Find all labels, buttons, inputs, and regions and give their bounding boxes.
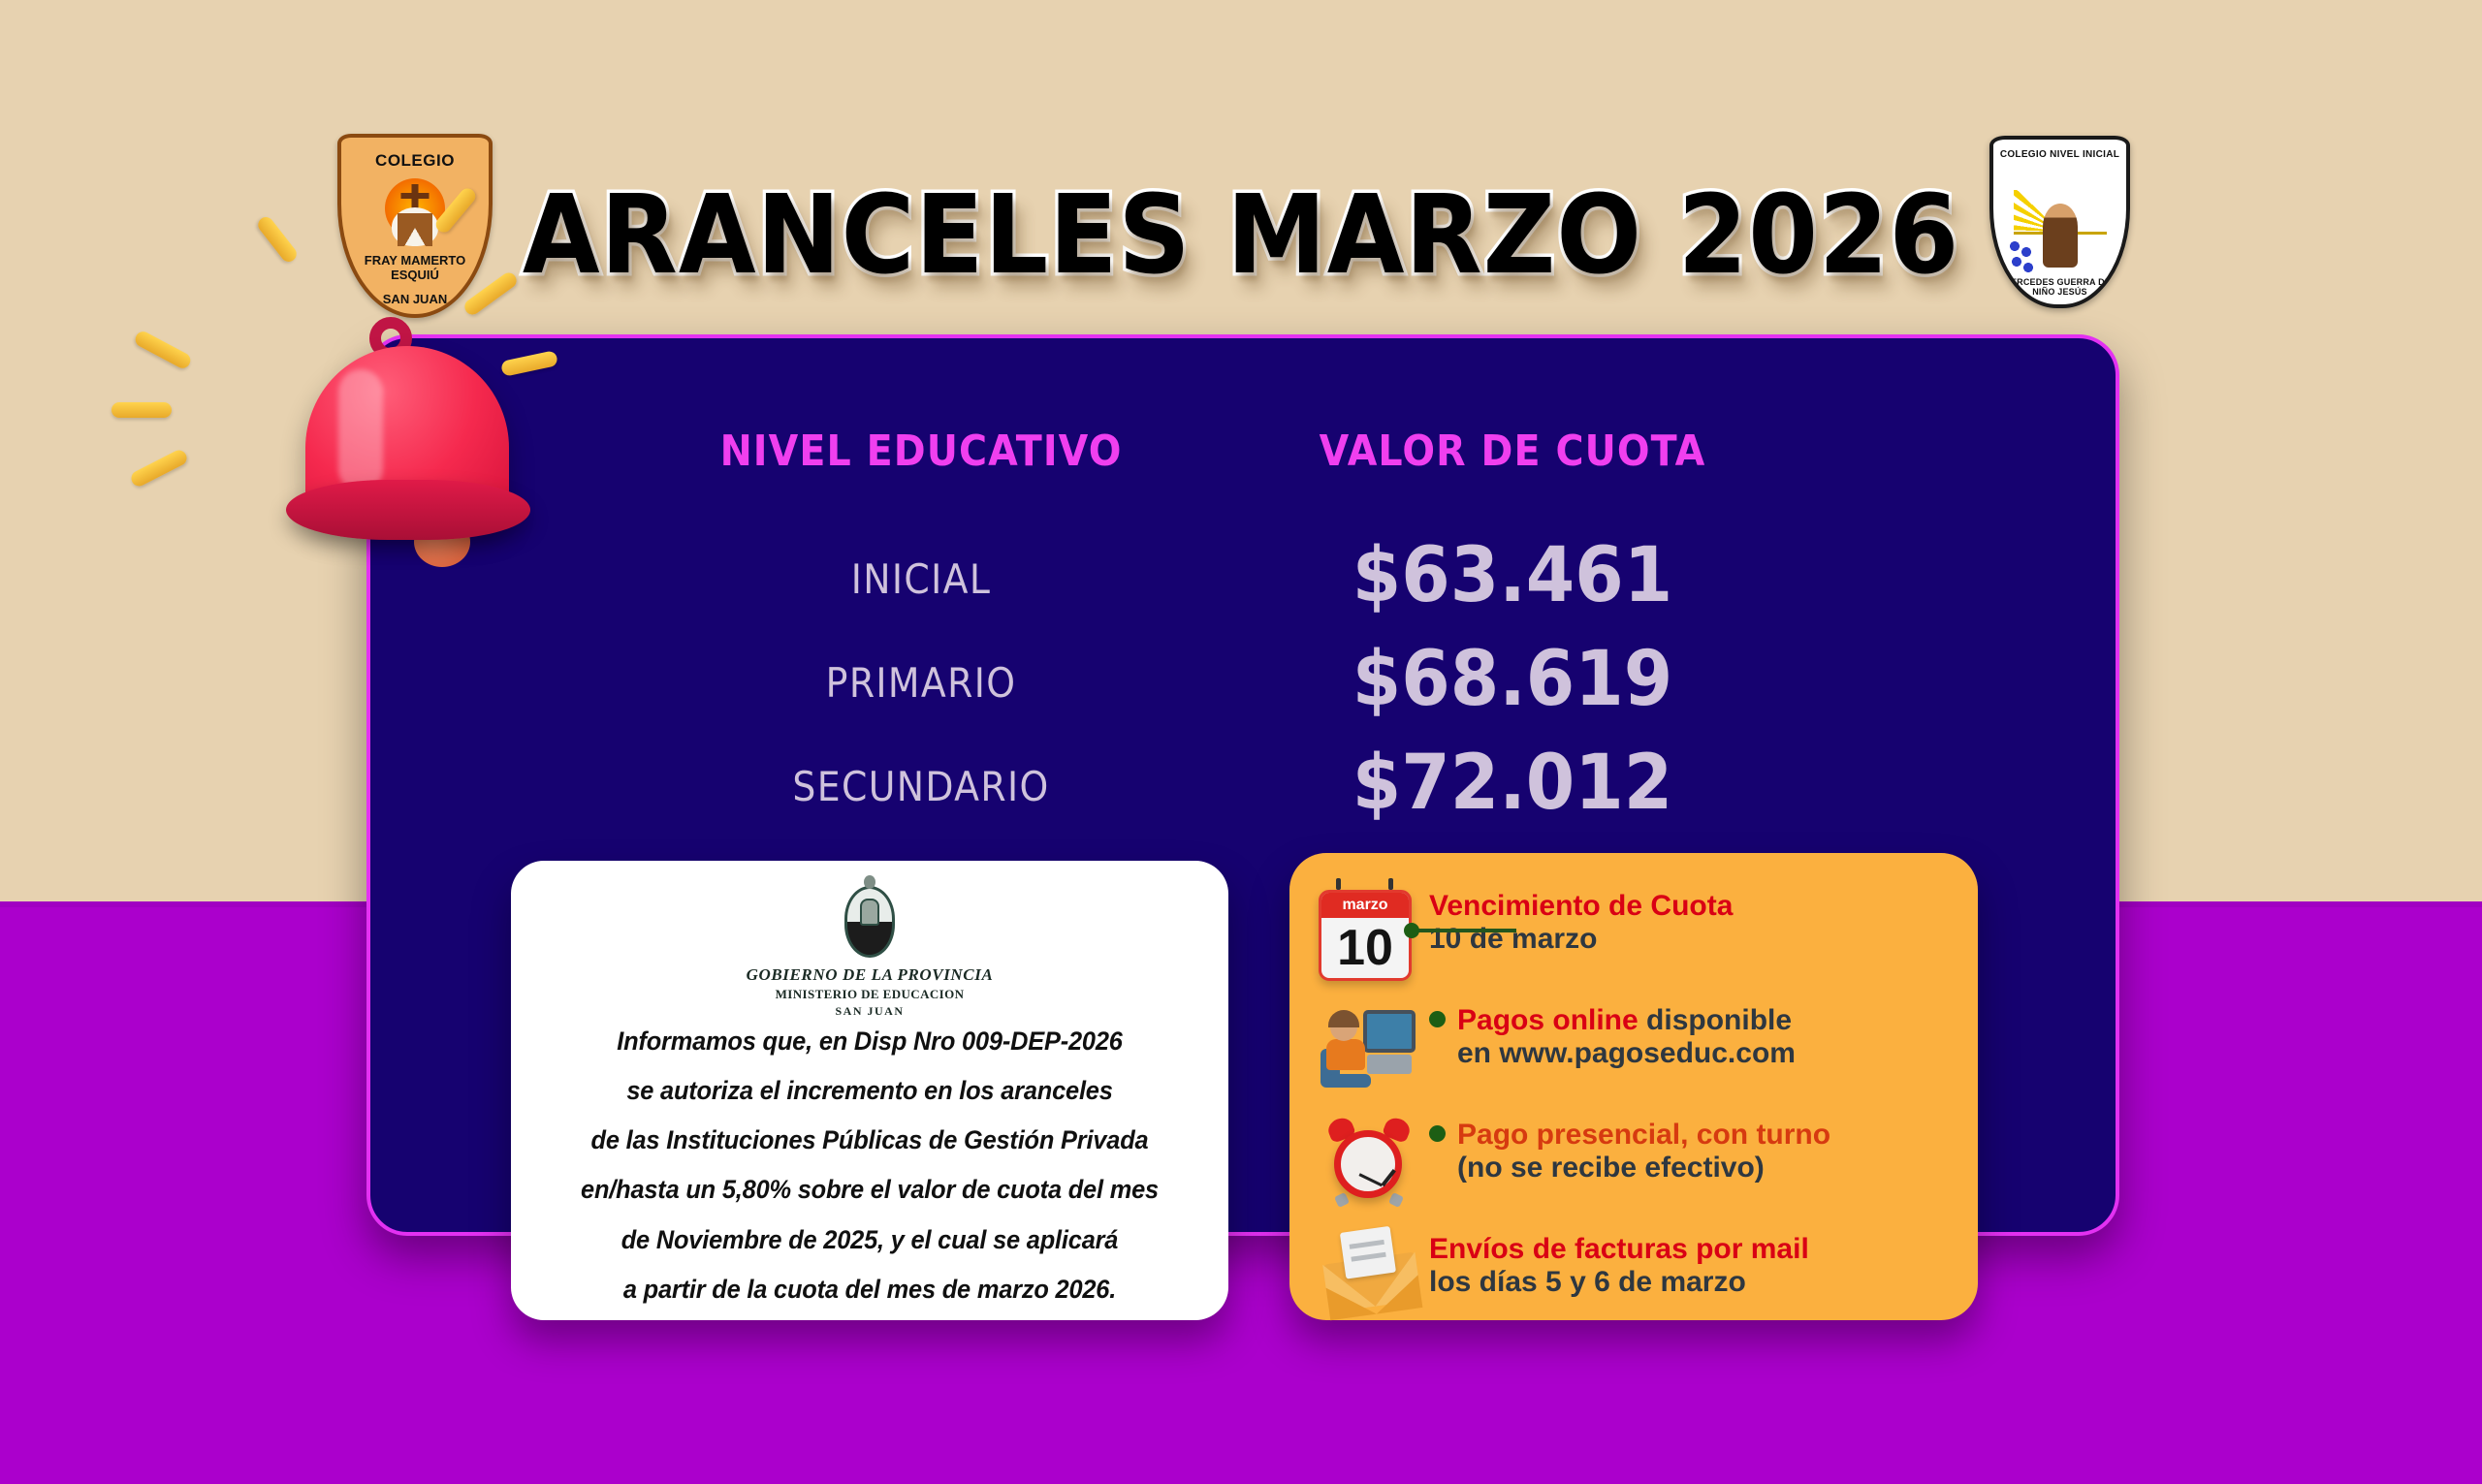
item-title: Pago presencial, con turno (1457, 1119, 1830, 1151)
connector-line-icon (1416, 929, 1516, 932)
notice-line: de Noviembre de 2025, y el cual se aplic… (551, 1226, 1189, 1254)
crest-shield-icon: COLEGIO FRAY MAMERTO ESQUIÚ SAN JUAN (337, 134, 493, 318)
column-header-value: VALOR DE CUOTA (1251, 426, 1774, 476)
computer-user-icon (1315, 998, 1429, 1095)
ministry-line-1: GOBIERNO DE LA PROVINCIA (530, 965, 1209, 985)
calendar-month: marzo (1321, 893, 1409, 918)
list-item: Pagos online disponible en www.pagoseduc… (1315, 998, 1953, 1095)
tariff-table: INICIAL $63.461 PRIMARIO $68.619 SECUNDA… (366, 538, 2119, 849)
crest-line-1: COLEGIO (341, 151, 489, 171)
chair-seat-icon (1328, 1074, 1371, 1088)
item-subtitle[interactable]: en www.pagoseduc.com (1429, 1037, 1953, 1070)
row-amount: $68.619 (1242, 636, 1783, 723)
crest-shield-icon-right: COLEGIO NIVEL INICIAL MERCEDES GUERRA DE… (1989, 136, 2130, 308)
ministry-logo: GOBIERNO DE LA PROVINCIA MINISTERIO DE E… (530, 886, 1209, 1002)
list-item: marzo 10 Vencimiento de Cuota 10 de marz… (1315, 884, 1953, 981)
row-level: SECUNDARIO (668, 763, 1174, 810)
friar-figure-icon (2043, 204, 2078, 268)
clock-minute-hand-icon (1358, 1173, 1383, 1186)
flowers-icon (2009, 240, 2034, 273)
bell-ray-icon (111, 402, 172, 418)
item-subtitle: los días 5 y 6 de marzo (1429, 1266, 1953, 1299)
item-title-highlight: Pagos online (1457, 1004, 1639, 1036)
logo-colegio-fray-mamerto-esquiu: COLEGIO FRAY MAMERTO ESQUIÚ SAN JUAN (337, 134, 493, 318)
desk-icon (1367, 1055, 1412, 1074)
bullet-icon (1429, 1125, 1446, 1142)
bell-lip-icon (286, 480, 530, 540)
row-amount: $63.461 (1242, 532, 1783, 619)
payment-info-card: marzo 10 Vencimiento de Cuota 10 de marz… (1289, 853, 1978, 1320)
ministry-notice-card: GOBIERNO DE LA PROVINCIA MINISTERIO DE E… (511, 861, 1228, 1320)
alarm-clock-icon (1315, 1113, 1429, 1210)
row-level: INICIAL (668, 555, 1174, 603)
calendar-pin-icon (1336, 878, 1341, 890)
clock-face-icon (1334, 1130, 1402, 1198)
table-row: SECUNDARIO $72.012 (366, 745, 2119, 849)
bullet-icon (1429, 1011, 1446, 1027)
item-title: Vencimiento de Cuota (1429, 890, 1953, 923)
ministry-line-3: SAN JUAN (530, 1004, 1209, 1019)
table-row: INICIAL $63.461 (366, 538, 2119, 642)
envelope-mail-icon (1315, 1227, 1429, 1324)
logo-colegio-nivel-inicial: COLEGIO NIVEL INICIAL MERCEDES GUERRA DE… (1989, 136, 2130, 308)
person-torso-icon (1326, 1039, 1365, 1070)
crest-line-2a: FRAY MAMERTO (365, 253, 466, 268)
list-item: Envíos de facturas por mail los días 5 y… (1315, 1227, 1953, 1324)
monitor-icon (1363, 1010, 1416, 1053)
clock-foot-icon (1334, 1192, 1350, 1208)
notice-line: Informamos que, en Disp Nro 009-DEP-2026 (551, 1027, 1189, 1056)
row-level: PRIMARIO (668, 659, 1174, 707)
column-header-level: NIVEL EDUCATIVO (668, 426, 1174, 476)
clock-foot-icon (1388, 1192, 1404, 1208)
notice-line: de las Instituciones Públicas de Gestión… (551, 1126, 1189, 1154)
person-hair-icon (1328, 1010, 1359, 1027)
table-row: PRIMARIO $68.619 (366, 642, 2119, 745)
crest-line-2: FRAY MAMERTO ESQUIÚ (341, 254, 489, 282)
item-subtitle: 10 de marzo (1429, 923, 1953, 956)
notice-line: en/hasta un 5,80% sobre el valor de cuot… (551, 1176, 1189, 1204)
item-subtitle: (no se recibe efectivo) (1429, 1152, 1953, 1184)
notice-paragraph: Informamos que, en Disp Nro 009-DEP-2026… (530, 1027, 1209, 1304)
province-crest-icon (844, 886, 895, 958)
item-title-rest: disponible (1639, 1004, 1792, 1036)
hands-icon (398, 213, 432, 246)
notice-line: a partir de la cuota del mes de marzo 20… (551, 1276, 1189, 1304)
calendar-icon: marzo 10 (1315, 884, 1429, 981)
crest-line-2b: ESQUIÚ (391, 268, 439, 282)
crest-top-text: COLEGIO NIVEL INICIAL (1993, 149, 2126, 160)
calendar-pin-icon (1388, 878, 1393, 890)
notice-line: se autoriza el incremento en los arancel… (551, 1077, 1189, 1105)
item-title: Envíos de facturas por mail (1429, 1233, 1953, 1266)
row-amount: $72.012 (1242, 740, 1783, 827)
list-item: Pago presencial, con turno (no se recibe… (1315, 1113, 1953, 1210)
calendar-day: 10 (1321, 918, 1409, 978)
ministry-line-2: MINISTERIO DE EDUCACION (530, 987, 1209, 1002)
clock-hour-hand-icon (1381, 1169, 1395, 1186)
crest-bottom-text: MERCEDES GUERRA DEL NIÑO JESÚS (1993, 277, 2126, 297)
notification-bell-icon (189, 296, 538, 596)
